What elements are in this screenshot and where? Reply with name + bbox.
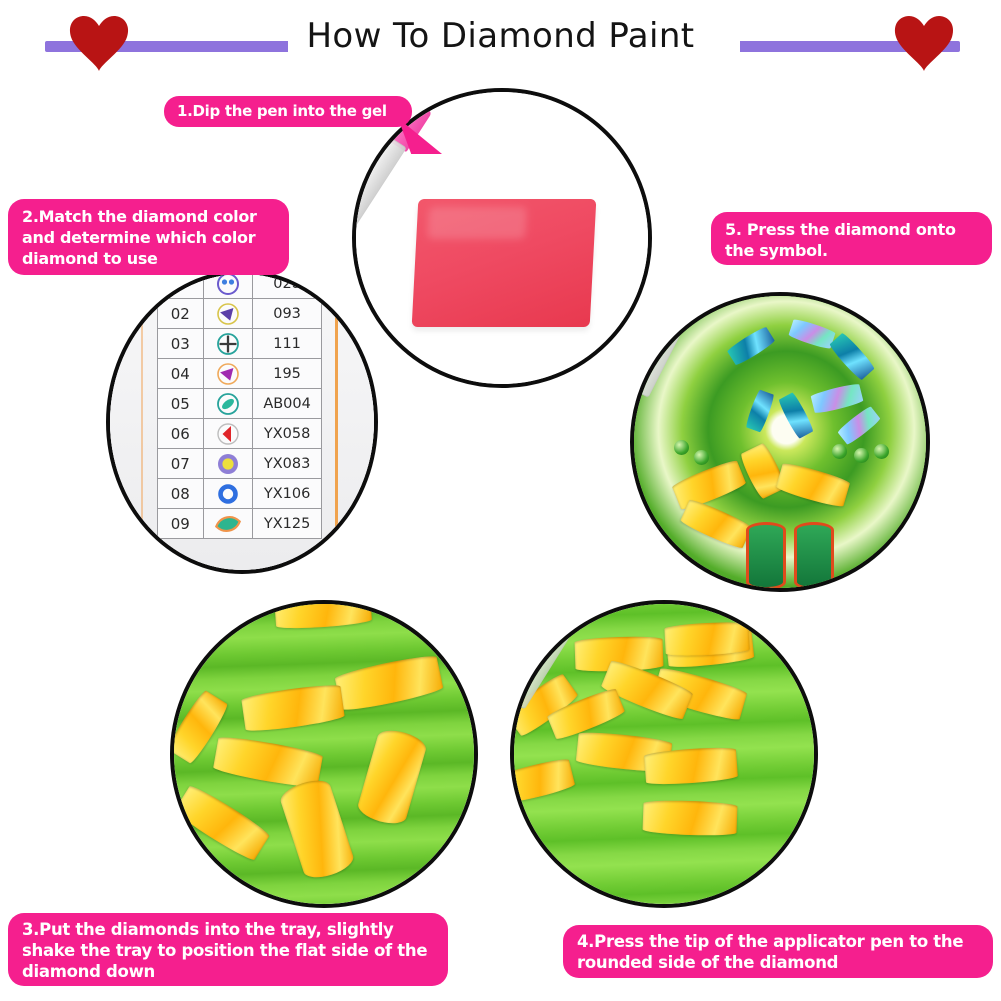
legend-row-number: 03: [158, 329, 204, 359]
step-2-label-text: 2.Match the diamond color and determine …: [22, 206, 275, 269]
gem: [874, 444, 889, 459]
gem: [811, 383, 865, 415]
gem: [727, 326, 777, 367]
step-5-illustration-circle: [630, 292, 930, 592]
step-3-label: 3.Put the diamonds into the tray, slight…: [8, 913, 448, 986]
gem: [832, 444, 847, 459]
step-1-label-text: 1.Dip the pen into the gel: [177, 101, 399, 122]
gem-yellow: [644, 746, 738, 786]
heart-icon: [67, 14, 131, 74]
step-2-label: 2.Match the diamond color and determine …: [8, 199, 289, 275]
legend-row-number: 07: [158, 449, 204, 479]
legend-row: 05AB004: [158, 389, 322, 419]
legend-row-code: YX125: [253, 509, 322, 539]
gem-green-leaf: [746, 522, 786, 588]
step-1-photo: [356, 92, 648, 384]
legend-row-code: YX083: [253, 449, 322, 479]
legend-row-number: 09: [158, 509, 204, 539]
legend-row-number: 05: [158, 389, 204, 419]
legend-row: 09YX125: [158, 509, 322, 539]
legend-row: 04195: [158, 359, 322, 389]
step-5-label-text: 5. Press the diamond onto the symbol.: [725, 219, 978, 261]
gem-yellow: [642, 799, 737, 836]
legend-row-number: 04: [158, 359, 204, 389]
left-chevron-symbol: [203, 419, 253, 449]
step-1-label: 1.Dip the pen into the gel: [164, 96, 412, 127]
infographic-page: How To Diamond Paint 1.Dip the pen into …: [0, 0, 1001, 1001]
gem: [788, 318, 836, 351]
gem: [674, 440, 689, 455]
step-3-illustration-circle: [170, 600, 478, 908]
step-5-label: 5. Press the diamond onto the symbol.: [711, 212, 992, 265]
gem-yellow: [277, 775, 356, 882]
step-2-photo: 02802093031110419505AB00406YX05807YX0830…: [110, 274, 374, 570]
open-ring-symbol: [203, 479, 253, 509]
legend-row-number: 06: [158, 419, 204, 449]
filled-dot-in-ring-symbol: [203, 449, 253, 479]
gem-yellow: [355, 726, 428, 828]
gem-green-leaf: [794, 522, 834, 588]
gem-yellow: [776, 461, 852, 509]
gem: [778, 392, 815, 440]
gem: [854, 448, 869, 463]
legend-row-code: YX106: [253, 479, 322, 509]
color-legend-table: 02802093031110419505AB00406YX05807YX0830…: [157, 270, 322, 539]
legend-row-code: YX058: [253, 419, 322, 449]
legend-row-number: 08: [158, 479, 204, 509]
step-3-photo: [174, 604, 474, 904]
gem-yellow: [664, 621, 750, 657]
legend-row-number: 02: [158, 299, 204, 329]
step-5-photo: [634, 296, 926, 588]
legend-row: 08YX106: [158, 479, 322, 509]
gem: [837, 405, 882, 446]
gem: [745, 389, 776, 433]
step-2-illustration-circle: 02802093031110419505AB00406YX05807YX0830…: [106, 270, 378, 574]
legend-row-code: 195: [253, 359, 322, 389]
gem-yellow: [334, 653, 444, 714]
step-3-label-text: 3.Put the diamonds into the tray, slight…: [22, 919, 434, 982]
heart-icon: [892, 14, 956, 74]
gem-yellow: [173, 783, 272, 863]
leaf-marquise-symbol: [203, 509, 253, 539]
legend-row: 02093: [158, 299, 322, 329]
gem-yellow: [510, 757, 576, 806]
pen-body: [352, 125, 407, 237]
legend-row: 07YX083: [158, 449, 322, 479]
page-title: How To Diamond Paint: [0, 16, 1001, 56]
gem-yellow: [274, 600, 372, 630]
legend-row: 03111: [158, 329, 322, 359]
legend-row-code: 111: [253, 329, 322, 359]
gem: [694, 450, 709, 465]
quarter-triangle-symbol: [203, 359, 253, 389]
step-4-label-text: 4.Press the tip of the applicator pen to…: [577, 931, 979, 973]
legend-row: 06YX058: [158, 419, 322, 449]
gem-yellow: [241, 682, 345, 734]
gem-yellow: [671, 458, 747, 512]
legend-table-body: 02802093031110419505AB00406YX05807YX0830…: [158, 270, 322, 539]
step-4-photo: [514, 604, 814, 904]
step-4-label: 4.Press the tip of the applicator pen to…: [563, 925, 993, 978]
gem-yellow: [680, 498, 754, 551]
gem: [828, 332, 876, 382]
green-diamond-tray: [170, 600, 478, 908]
quarter-triangle-symbol: [203, 299, 253, 329]
step-4-illustration-circle: [510, 600, 818, 908]
pink-gel-pad: [412, 199, 597, 327]
plus-cross-symbol: [203, 329, 253, 359]
step-1-illustration-circle: [352, 88, 652, 388]
oval-bean-symbol: [203, 389, 253, 419]
page-header: How To Diamond Paint: [0, 0, 1001, 80]
legend-row-code: AB004: [253, 389, 322, 419]
legend-row-code: 093: [253, 299, 322, 329]
